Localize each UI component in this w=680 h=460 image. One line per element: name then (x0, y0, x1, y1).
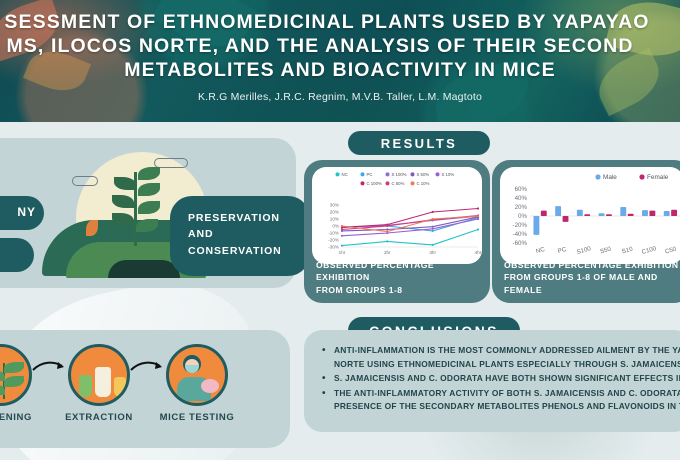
preservation-line-2: AND (188, 226, 310, 242)
svg-text:C 10%: C 10% (417, 181, 430, 186)
conclusion-text: THE ANTI-INFLAMMATORY ACTIVITY OF BOTH S… (334, 388, 680, 398)
flow-arrow-icon (32, 360, 66, 374)
methodology-label-mice-testing: MICE TESTING (154, 412, 240, 423)
conclusions-list: ANTI-INFLAMMATION IS THE MOST COMMONLY A… (320, 344, 680, 414)
soil-shape (108, 260, 180, 278)
card-caption-2: OBSERVED PERCENTAGE EXHIBITION FROM GROU… (504, 259, 680, 296)
left-chip-secondary (0, 238, 34, 272)
svg-text:S 10%: S 10% (442, 172, 455, 177)
svg-text:PC: PC (557, 246, 568, 255)
methodology-panel: SCREENING EXTRACTION MICE TESTING (0, 330, 290, 448)
svg-text:40%: 40% (515, 195, 528, 202)
svg-text:60%: 60% (515, 186, 528, 193)
svg-text:-20%: -20% (513, 222, 528, 229)
methodology-icon-extraction (68, 344, 130, 406)
svg-text:-10%: -10% (328, 231, 339, 236)
svg-text:2hr: 2hr (384, 250, 391, 255)
caption-line-1: OBSERVED PERCENTAGE EXHIBITION (504, 259, 680, 271)
svg-text:10%: 10% (330, 217, 339, 222)
poster-header: SESSMENT OF ETHNOMEDICINAL PLANTS USED B… (0, 0, 680, 122)
bar-chart: MaleFemale60%40%20%0%-20%-40%-60%NCPCS10… (500, 167, 680, 264)
svg-text:1hr: 1hr (339, 250, 346, 255)
mouse-icon (201, 379, 219, 393)
methodology-label-extraction: EXTRACTION (56, 412, 142, 423)
svg-text:S100: S100 (576, 245, 592, 256)
left-chip-label: NY (17, 205, 36, 219)
svg-text:S10: S10 (621, 246, 634, 256)
svg-text:NC: NC (342, 172, 348, 177)
list-item: ANTI-INFLAMMATION IS THE MOST COMMONLY A… (320, 344, 680, 371)
methodology-icon-screening (0, 344, 32, 406)
svg-text:Female: Female (647, 174, 669, 181)
section-header-results: RESULTS (348, 131, 490, 155)
svg-text:-60%: -60% (513, 240, 528, 247)
svg-text:-20%: -20% (328, 238, 339, 243)
caption-line-2: FROM GROUPS 1-8 (316, 284, 482, 296)
poster-canvas: SESSMENT OF ETHNOMEDICINAL PLANTS USED B… (0, 0, 680, 460)
preservation-label: PRESERVATION AND CONSERVATION (170, 196, 310, 276)
svg-text:C100: C100 (641, 245, 658, 256)
svg-text:C 100%: C 100% (367, 181, 382, 186)
results-card-bar-chart: MaleFemale60%40%20%0%-20%-40%-60%NCPCS10… (492, 160, 680, 303)
svg-text:-30%: -30% (328, 245, 339, 250)
conclusions-panel: ANTI-INFLAMMATION IS THE MOST COMMONLY A… (304, 330, 680, 432)
svg-text:-40%: -40% (513, 231, 528, 238)
svg-text:4hr: 4hr (475, 250, 482, 255)
svg-text:3hr: 3hr (429, 250, 436, 255)
face-mask-icon (185, 365, 199, 373)
line-chart-svg: NCPCS 100%S 50%S 10%C 100%C 50%C 10%30%2… (312, 167, 482, 264)
title-line-2: MS, ILOCOS NORTE, AND THE ANALYSIS OF TH… (0, 35, 680, 59)
svg-text:20%: 20% (515, 204, 528, 211)
conclusion-text-cont: PRESENCE OF THE SECONDARY METABOLITES PH… (334, 400, 680, 414)
cloud-icon (72, 176, 98, 186)
svg-text:Male: Male (603, 174, 617, 181)
bar-chart-svg: MaleFemale60%40%20%0%-20%-40%-60%NCPCS10… (500, 167, 680, 264)
title-line-1: SESSMENT OF ETHNOMEDICINAL PLANTS USED B… (0, 11, 680, 35)
caption-line-1: OBSERVED PERCENTAGE EXHIBITION (316, 259, 482, 284)
preservation-line-3: CONSERVATION (188, 243, 310, 259)
svg-text:S 50%: S 50% (417, 172, 430, 177)
svg-text:S 100%: S 100% (392, 172, 407, 177)
preservation-line-1: PRESERVATION (188, 210, 310, 226)
flow-arrow-icon (130, 360, 164, 374)
list-item: THE ANTI-INFLAMMATORY ACTIVITY OF BOTH S… (320, 387, 680, 414)
svg-text:PC: PC (367, 172, 373, 177)
card-caption-1: OBSERVED PERCENTAGE EXHIBITION FROM GROU… (316, 259, 482, 296)
methodology-label-screening: SCREENING (0, 412, 44, 423)
svg-text:20%: 20% (330, 210, 339, 215)
author-list: K.R.G Merilles, J.R.C. Regnim, M.V.B. Ta… (0, 91, 680, 103)
svg-text:0%: 0% (332, 224, 339, 229)
svg-text:0%: 0% (518, 213, 527, 220)
svg-text:C 50%: C 50% (392, 181, 405, 186)
conclusion-text-cont: NORTE USING ETHNOMEDICINAL PLANTS ESPECI… (334, 358, 680, 372)
leaf-icon (4, 362, 24, 373)
conclusion-text: S. JAMAICENSIS AND C. ODORATA HAVE BOTH … (334, 373, 680, 383)
results-card-line-chart: NCPCS 100%S 50%S 10%C 100%C 50%C 10%30%2… (304, 160, 490, 303)
svg-text:S50: S50 (599, 246, 612, 256)
list-item: S. JAMAICENSIS AND C. ODORATA HAVE BOTH … (320, 372, 680, 386)
flask-icon (79, 375, 92, 397)
caption-line-2: FROM GROUPS 1-8 OF MALE AND FEMALE (504, 271, 680, 296)
leaf-icon (4, 376, 24, 387)
svg-text:C50: C50 (664, 245, 677, 255)
line-chart: NCPCS 100%S 50%S 10%C 100%C 50%C 10%30%2… (312, 167, 482, 264)
methodology-icon-mice-testing (166, 344, 228, 406)
flask-icon (95, 367, 111, 397)
title-line-3: METABOLITES AND BIOACTIVITY IN MICE (0, 59, 680, 83)
flask-icon (114, 377, 126, 397)
conclusion-text: ANTI-INFLAMMATION IS THE MOST COMMONLY A… (334, 345, 680, 355)
svg-text:30%: 30% (330, 203, 339, 208)
poster-title: SESSMENT OF ETHNOMEDICINAL PLANTS USED B… (0, 0, 680, 82)
svg-text:NC: NC (535, 246, 546, 255)
